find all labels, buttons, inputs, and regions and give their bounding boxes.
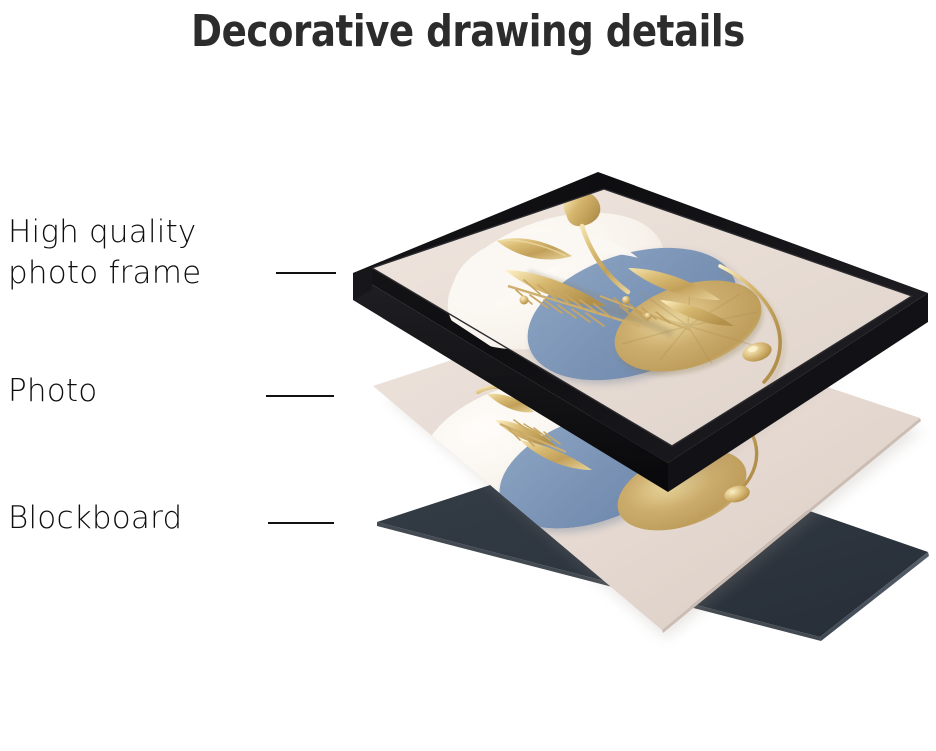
exploded-view-svg	[0, 0, 936, 751]
leader-line-board	[268, 522, 334, 524]
callout-photo: Photo	[8, 371, 97, 412]
leader-line-wrap-photo	[266, 395, 334, 397]
callout-line-1: Photo	[8, 371, 97, 412]
leader-line-photo	[266, 395, 334, 397]
leader-line-frame	[276, 272, 336, 274]
callout-line-2: photo frame	[8, 253, 201, 294]
callout-high-quality-photo-frame: High quality photo frame	[8, 212, 201, 294]
leader-line-wrap-board	[268, 522, 334, 524]
exploded-product-diagram	[0, 0, 936, 751]
leader-line-wrap-frame	[276, 272, 336, 274]
callout-line-1: Blockboard	[8, 498, 182, 539]
callout-blockboard: Blockboard	[8, 498, 182, 539]
callout-line-1: High quality	[8, 212, 201, 253]
